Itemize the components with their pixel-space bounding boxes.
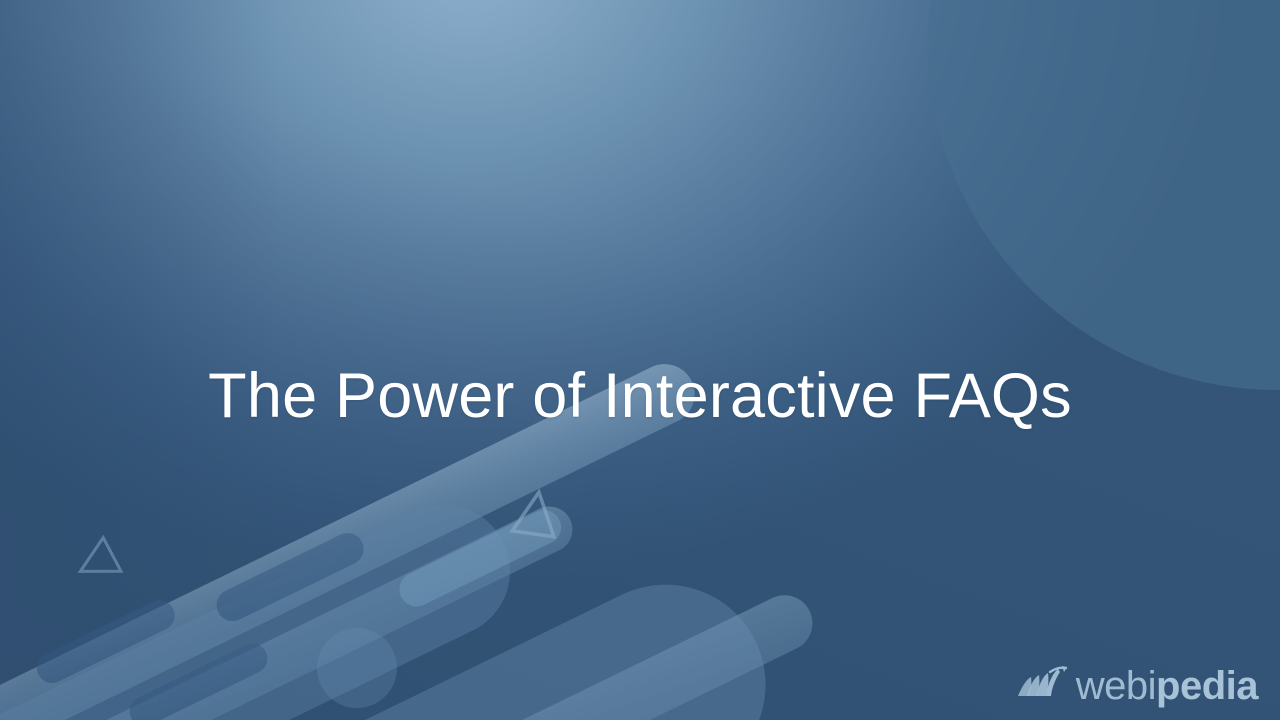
page-title: The Power of Interactive FAQs (0, 360, 1280, 432)
logo-text-bold: pedia (1156, 664, 1258, 708)
logo-text-light: webi (1076, 664, 1156, 708)
slide-canvas: The Power of Interactive FAQs webipedia (0, 0, 1280, 720)
brand-logo: webipedia (1016, 666, 1258, 706)
logo-wordmark: webipedia (1076, 666, 1258, 706)
webipedia-w-arrow-mark (1016, 666, 1070, 706)
